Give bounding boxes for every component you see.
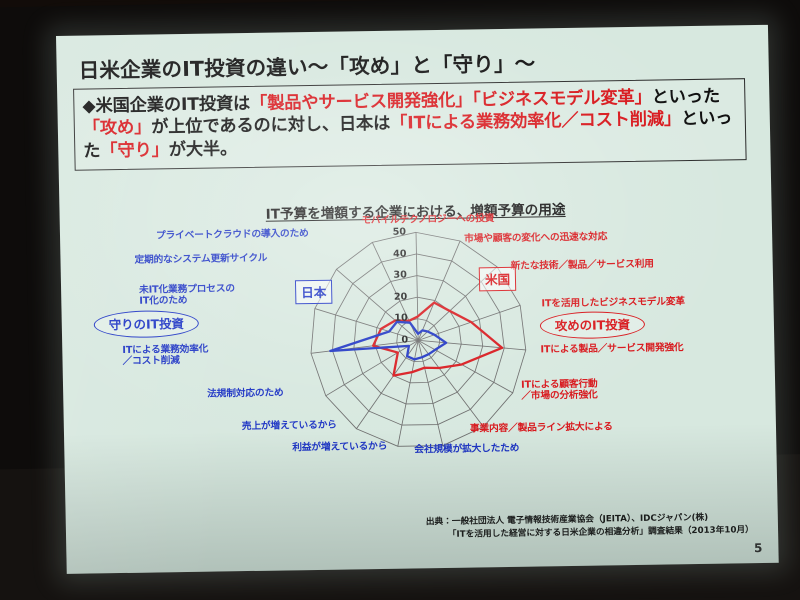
axis-label-11: ITによる業務効率化 ／コスト削減 (122, 343, 252, 367)
lead-segment-4: が上位であるのに対し、日本は (151, 114, 390, 138)
lead-segment-5: 「ITによる業務効率化／コスト削減」 (390, 110, 681, 135)
slide-title: 日米企業のIT投資の違い〜「攻め」と「守り」〜 (78, 46, 535, 83)
lead-segment-7: 「守り」 (100, 140, 169, 161)
axis-label-10: 法規制対応のため (207, 387, 337, 400)
radar-axis-spokes (309, 231, 528, 448)
radar-chart-block: IT予算を増額する企業における、増額予算の用途 01020304050 モバイル… (59, 195, 777, 516)
radial-tick-0: 0 (384, 335, 408, 346)
radial-tick-10: 10 (384, 313, 408, 324)
radial-tick-40: 40 (382, 248, 406, 259)
radar-spoke-1 (416, 241, 462, 340)
radial-tick-30: 30 (383, 270, 407, 281)
lead-paragraph: ◆米国企業のIT投資は「製品やサービス開発強化」「ビジネスモデル変革」といった「… (82, 85, 737, 162)
radar-chart: 01020304050 モバイルテクノロジーへの投資市場や顧客の変化への迅速な対… (60, 213, 778, 516)
axis-label-12: 未IT化業務プロセスの IT化のため (139, 283, 259, 307)
radial-tick-20: 20 (383, 291, 407, 302)
photo-frame: 日米企業のIT投資の違い〜「攻め」と「守り」〜 ◆米国企業のIT投資は「製品やサ… (0, 0, 800, 600)
source-citation: 出典：一般社団法人 電子情報技術産業協会（JEITA）、IDCジャパン(株) 「… (426, 511, 754, 541)
radar-spoke-9 (355, 340, 420, 428)
legend-tag-usa: 米国 (479, 267, 517, 292)
presentation-slide: 日米企業のIT投資の違い〜「攻め」と「守り」〜 ◆米国企業のIT投資は「製品やサ… (56, 25, 779, 574)
lead-segment-2: といった (651, 87, 720, 108)
lead-segment-0: ◆米国企業のIT投資は (82, 94, 250, 117)
radar-spoke-7 (418, 340, 443, 446)
lead-segment-3: 「攻め」 (83, 118, 152, 139)
lead-callout-box: ◆米国企業のIT投資は「製品やサービス開発強化」「ビジネスモデル変革」といった「… (73, 78, 747, 171)
axis-label-5: ITによる顧客行動 ／市場の分析強化 (521, 377, 671, 401)
legend-tag-japan: 日本 (295, 280, 333, 305)
radial-tick-50: 50 (382, 227, 406, 238)
radar-spoke-0 (416, 232, 418, 340)
lead-segment-8: が大半。 (169, 139, 238, 160)
page-number: 5 (754, 541, 763, 555)
